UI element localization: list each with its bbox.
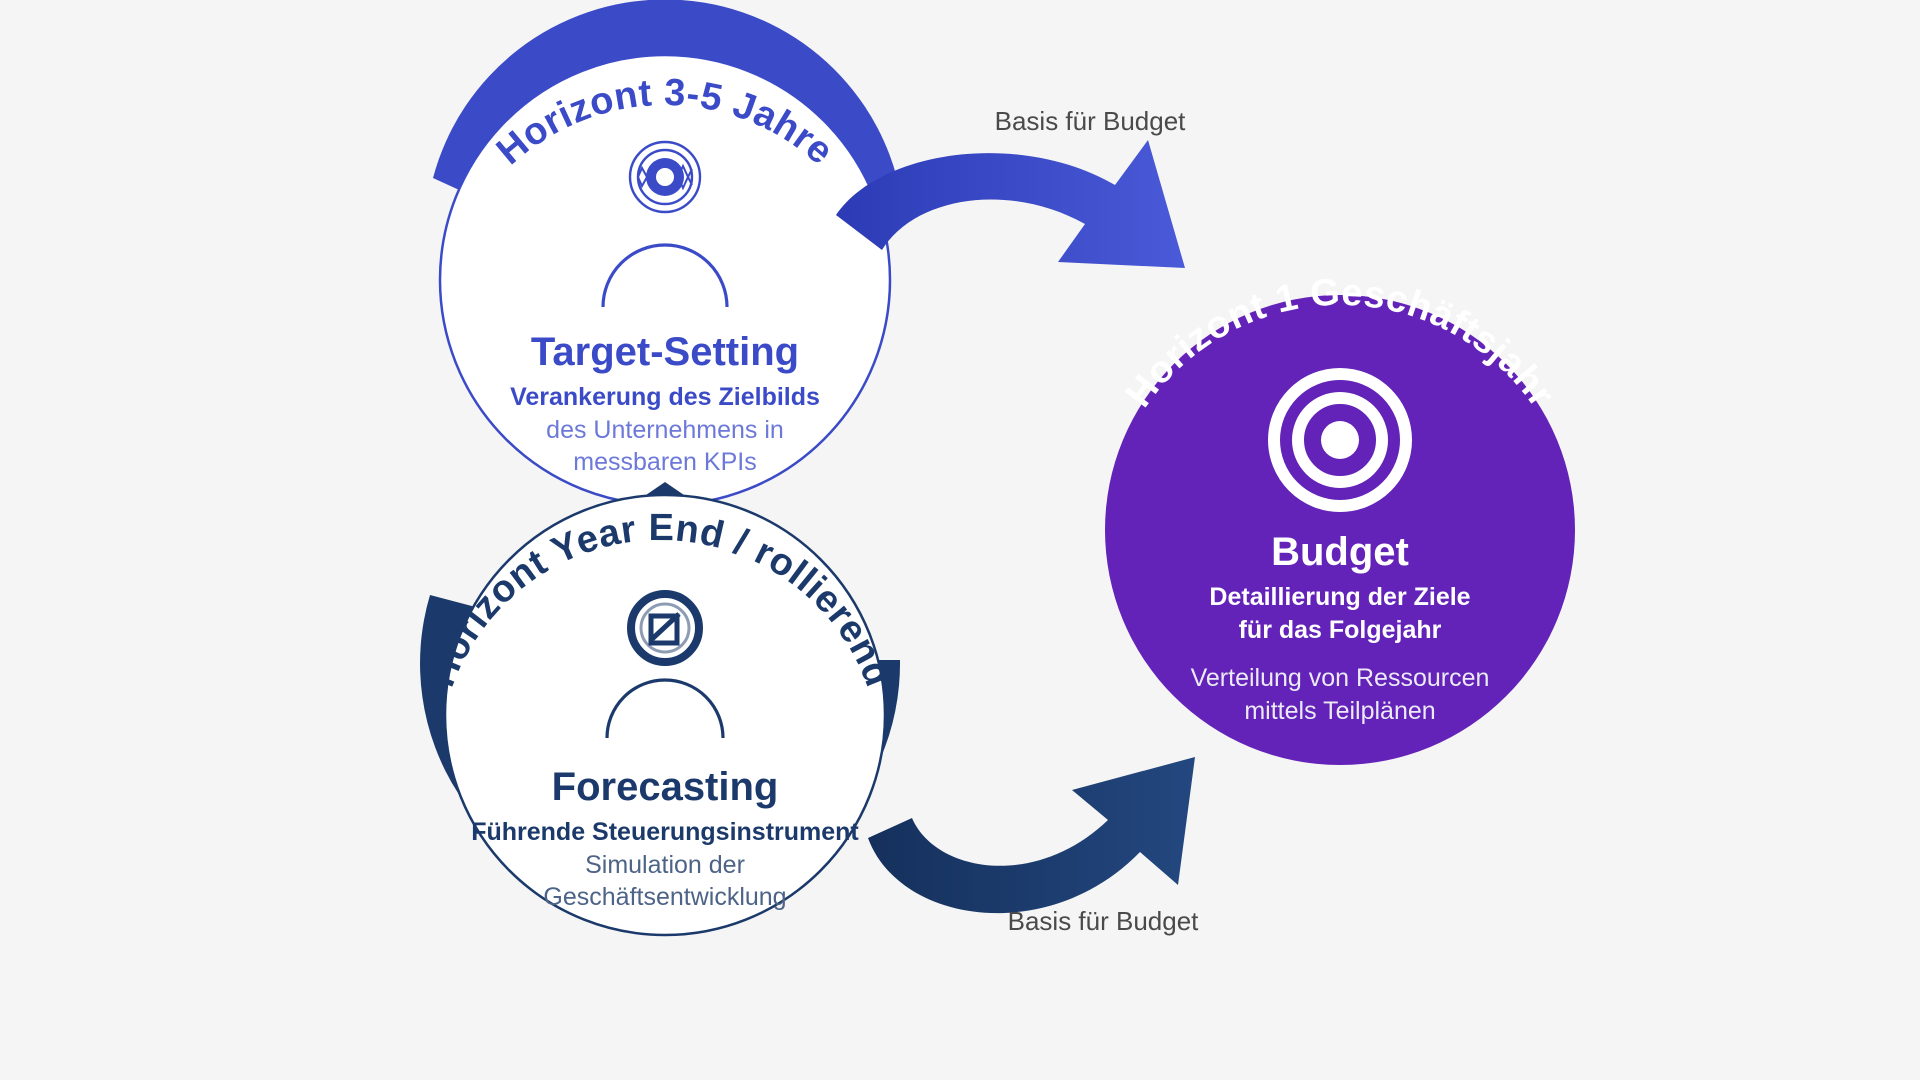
node-budget[interactable]: Horizont 1 Geschäftsjahr Budget Detailli…: [1105, 272, 1575, 765]
forecasting-subtitle: Führende Steuerungsinstrument: [471, 818, 859, 846]
budget-desc-1: Verteilung von Ressourcen: [1191, 664, 1490, 692]
budget-title: Budget: [1271, 530, 1409, 574]
budget-desc-2: mittels Teilplänen: [1244, 697, 1435, 725]
forecasting-title: Forecasting: [552, 765, 779, 809]
forecasting-desc-1: Simulation der: [585, 851, 745, 879]
target-setting-desc-2: messbaren KPIs: [573, 448, 756, 476]
connector-target-to-budget-label: Basis für Budget: [995, 106, 1187, 136]
node-target-setting[interactable]: Horizont 3-5 Jahre Target-Setting Verank…: [440, 55, 890, 505]
planning-cycle-diagram: Horizont 3-5 Jahre Target-Setting Verank…: [0, 0, 1920, 1080]
target-setting-subtitle: Verankerung des Zielbilds: [510, 383, 820, 411]
connector-forecast-to-budget-label: Basis für Budget: [1008, 906, 1200, 936]
connector-forecast-to-budget[interactable]: Basis für Budget: [868, 757, 1199, 936]
node-forecasting[interactable]: Horizont Year End / rollierend Forecasti…: [421, 495, 899, 935]
budget-subtitle-2: für das Folgejahr: [1239, 616, 1442, 644]
bullseye-target-icon: [1274, 374, 1406, 506]
target-setting-title: Target-Setting: [531, 330, 799, 374]
budget-subtitle-1: Detaillierung der Ziele: [1209, 583, 1470, 611]
diagram-canvas: Horizont 3-5 Jahre Target-Setting Verank…: [0, 0, 1920, 1080]
target-setting-desc-1: des Unternehmens in: [546, 416, 784, 444]
forecasting-desc-2: Geschäftsentwicklung: [543, 883, 786, 911]
connector-target-to-budget[interactable]: Basis für Budget: [836, 106, 1186, 268]
